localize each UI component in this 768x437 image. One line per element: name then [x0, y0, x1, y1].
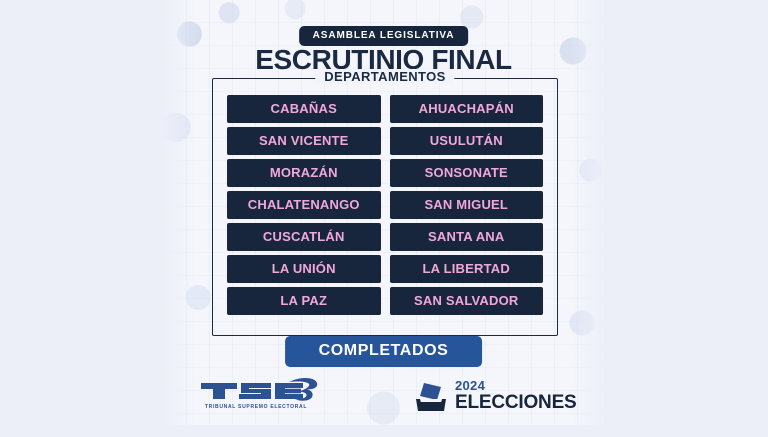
- frame-label-departamentos: DEPARTAMENTOS: [315, 69, 454, 84]
- elecciones-text: 2024 ELECCIONES: [455, 379, 577, 412]
- tse-swoosh-logo-icon: [193, 377, 319, 403]
- tse-logo: TRIBUNAL SUPREMO ELECTORAL: [193, 377, 319, 410]
- election-year: 2024: [455, 379, 577, 392]
- tse-caption: TRIBUNAL SUPREMO ELECTORAL: [193, 404, 319, 410]
- department-chip[interactable]: SONSONATE: [390, 159, 544, 187]
- department-chip[interactable]: CUSCATLÁN: [227, 223, 381, 251]
- department-chip[interactable]: LA LIBERTAD: [390, 255, 544, 283]
- department-chip[interactable]: CABAÑAS: [227, 95, 381, 123]
- department-chip[interactable]: CHALATENANGO: [227, 191, 381, 219]
- graphic-content: ASAMBLEA LEGISLATIVA ESCRUTINIO FINAL DE…: [163, 0, 604, 425]
- departments-frame: DEPARTAMENTOS CABAÑAS AHUACHAPÁN SAN VIC…: [212, 78, 558, 336]
- page-background: ASAMBLEA LEGISLATIVA ESCRUTINIO FINAL DE…: [0, 0, 768, 437]
- department-chip[interactable]: SANTA ANA: [390, 223, 544, 251]
- department-chip[interactable]: AHUACHAPÁN: [390, 95, 544, 123]
- department-chip[interactable]: MORAZÁN: [227, 159, 381, 187]
- election-graphic-panel: ASAMBLEA LEGISLATIVA ESCRUTINIO FINAL DE…: [163, 0, 604, 425]
- elecciones-wordmark: ELECCIONES: [455, 393, 577, 412]
- department-chip[interactable]: LA PAZ: [227, 287, 381, 315]
- department-chip[interactable]: SAN SALVADOR: [390, 287, 544, 315]
- department-chip[interactable]: SAN MIGUEL: [390, 191, 544, 219]
- departments-grid: CABAÑAS AHUACHAPÁN SAN VICENTE USULUTÁN …: [227, 95, 543, 315]
- department-chip[interactable]: USULUTÁN: [390, 127, 544, 155]
- assembly-badge: ASAMBLEA LEGISLATIVA: [299, 26, 469, 46]
- department-chip[interactable]: LA UNIÓN: [227, 255, 381, 283]
- elecciones-logo: 2024 ELECCIONES: [415, 379, 577, 412]
- status-badge-completados: COMPLETADOS: [285, 336, 483, 367]
- ballot-box-icon: [415, 380, 449, 412]
- department-chip[interactable]: SAN VICENTE: [227, 127, 381, 155]
- footer-logos: TRIBUNAL SUPREMO ELECTORAL 2024 ELECCION…: [163, 375, 604, 423]
